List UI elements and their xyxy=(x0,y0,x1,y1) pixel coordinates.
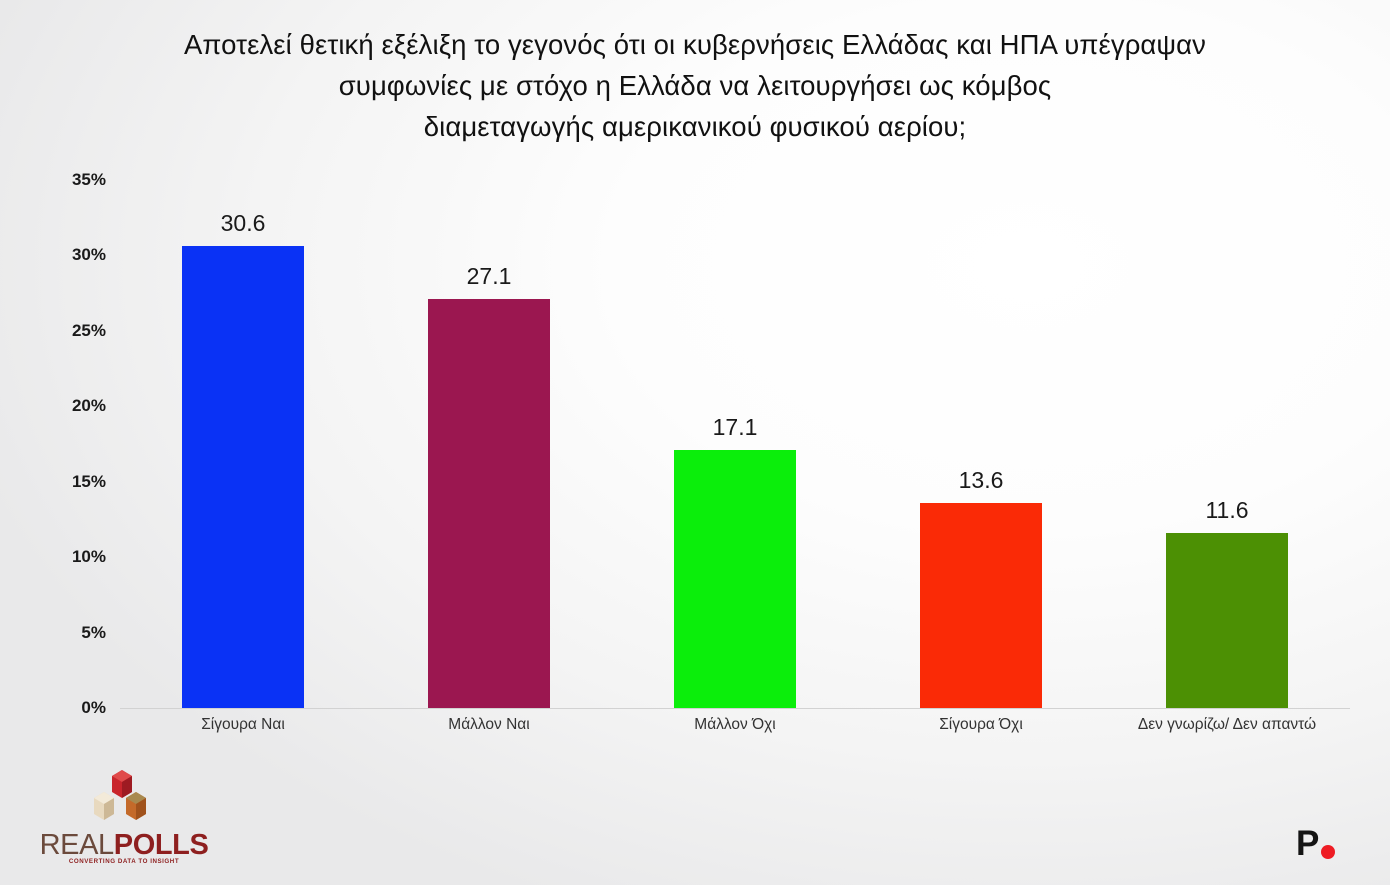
y-axis-tick-25: 25% xyxy=(0,321,106,341)
bar[interactable]: 11.6 xyxy=(1166,533,1288,708)
chart-slide: Αποτελεί θετική εξέλιξη το γεγονός ότι ο… xyxy=(0,0,1390,885)
bar[interactable]: 27.1 xyxy=(428,299,550,708)
bar-value-label: 27.1 xyxy=(467,263,512,290)
realpolls-wordmark: REALPOLLS xyxy=(34,830,214,860)
x-axis-category-label: Μάλλον Όχι xyxy=(694,716,775,734)
realpolls-word-real: REAL xyxy=(40,829,114,861)
x-axis-line xyxy=(120,708,1350,709)
bar[interactable]: 17.1 xyxy=(674,450,796,708)
realpolls-word-polls: POLLS xyxy=(114,829,209,861)
corner-logo-dot-icon xyxy=(1321,845,1335,859)
x-axis-category-label: Σίγουρα Ναι xyxy=(201,716,285,734)
bar-value-label: 11.6 xyxy=(1205,497,1248,524)
y-axis-tick-5: 5% xyxy=(0,623,106,643)
corner-p-logo: P xyxy=(1296,826,1356,866)
bar-value-label: 13.6 xyxy=(959,467,1004,494)
chart-title-line-2: συμφωνίες με στόχο η Ελλάδα να λειτουργή… xyxy=(70,65,1320,106)
chart-title-line-1: Αποτελεί θετική εξέλιξη το γεγονός ότι ο… xyxy=(70,24,1320,65)
realpolls-tagline: CONVERTING DATA TO INSIGHT xyxy=(34,858,214,865)
realpolls-cubes-icon xyxy=(86,768,158,830)
y-axis-tick-15: 15% xyxy=(0,472,106,492)
x-axis-category-label: Σίγουρα Όχι xyxy=(939,716,1023,734)
bar[interactable]: 30.6 xyxy=(182,246,304,708)
corner-logo-letter: P xyxy=(1296,826,1319,861)
realpolls-logo: REALPOLLS CONVERTING DATA TO INSIGHT xyxy=(34,768,214,866)
bar[interactable]: 13.6 xyxy=(920,503,1042,708)
x-axis-category-label: Μάλλον Ναι xyxy=(448,716,529,734)
y-axis-tick-0: 0% xyxy=(0,698,106,718)
bar-group: 17.1Μάλλον Όχι xyxy=(612,180,858,708)
chart-title: Αποτελεί θετική εξέλιξη το γεγονός ότι ο… xyxy=(70,24,1320,147)
bar-group: 11.6Δεν γνωρίζω/ Δεν απαντώ xyxy=(1104,180,1350,708)
bar-group: 30.6Σίγουρα Ναι xyxy=(120,180,366,708)
y-axis-tick-10: 10% xyxy=(0,547,106,567)
y-axis-tick-20: 20% xyxy=(0,396,106,416)
bar-value-label: 30.6 xyxy=(221,210,266,237)
chart-title-line-3: διαμεταγωγής αμερικανικού φυσικού αερίου… xyxy=(70,106,1320,147)
y-axis-tick-35: 35% xyxy=(0,170,106,190)
x-axis-category-label: Δεν γνωρίζω/ Δεν απαντώ xyxy=(1138,716,1316,734)
bar-value-label: 17.1 xyxy=(713,414,758,441)
bar-chart-plot-area: 35%30%25%20%15%10%5%0% 30.6Σίγουρα Ναι27… xyxy=(120,180,1350,708)
bar-group: 27.1Μάλλον Ναι xyxy=(366,180,612,708)
y-axis-tick-30: 30% xyxy=(0,245,106,265)
bar-group: 13.6Σίγουρα Όχι xyxy=(858,180,1104,708)
